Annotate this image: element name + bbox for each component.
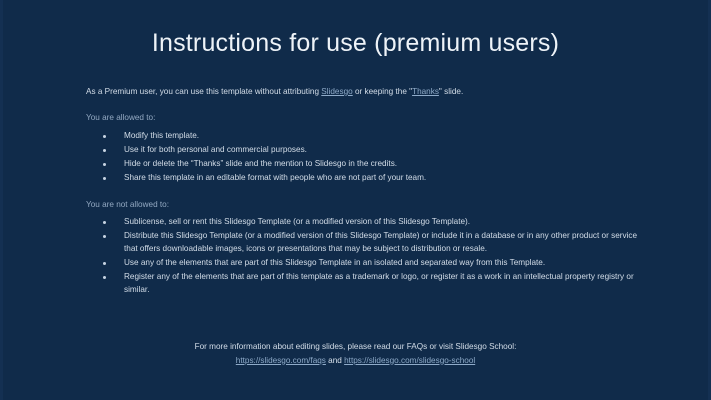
intro-text-part3: " slide. — [439, 87, 463, 96]
list-item: Modify this template. — [86, 130, 641, 143]
bullet-dot-icon — [103, 262, 106, 265]
list-item-text: Use any of the elements that are part of… — [124, 258, 545, 267]
bullet-dot-icon — [103, 276, 106, 279]
bullet-dot-icon — [103, 235, 106, 238]
list-item: Share this template in an editable forma… — [86, 172, 641, 185]
list-item: Use it for both personal and commercial … — [86, 144, 641, 157]
list-item: Sublicense, sell or rent this Slidesgo T… — [86, 216, 641, 229]
slide-instructions-premium: Instructions for use (premium users) As … — [0, 0, 711, 400]
list-item-text: Use it for both personal and commercial … — [124, 145, 307, 154]
footer: For more information about editing slide… — [0, 340, 711, 367]
list-item: Register any of the elements that are pa… — [86, 271, 641, 297]
faqs-url-link[interactable]: https://slidesgo.com/faqs — [236, 356, 326, 365]
list-item-text: Hide or delete the “Thanks” slide and th… — [124, 159, 397, 168]
thanks-link[interactable]: Thanks — [412, 87, 439, 96]
intro-paragraph: As a Premium user, you can use this temp… — [86, 86, 641, 98]
bullet-dot-icon — [103, 135, 106, 138]
footer-info-text: For more information about editing slide… — [0, 340, 711, 354]
list-item: Distribute this Slidesgo Template (or a … — [86, 230, 641, 256]
allowed-heading: You are allowed to: — [86, 112, 641, 123]
intro-text-part2: or keeping the " — [353, 87, 412, 96]
intro-text-part1: As a Premium user, you can use this temp… — [86, 87, 321, 96]
list-item-text: Modify this template. — [124, 131, 199, 140]
bullet-dot-icon — [103, 149, 106, 152]
list-item-text: Register any of the elements that are pa… — [124, 272, 634, 294]
slidesgo-link[interactable]: Slidesgo — [321, 87, 352, 96]
slidesgo-school-url-link[interactable]: https://slidesgo.com/slidesgo-school — [344, 356, 475, 365]
not-allowed-heading: You are not allowed to: — [86, 199, 641, 210]
content-body: As a Premium user, you can use this temp… — [86, 86, 641, 311]
bullet-dot-icon — [103, 221, 106, 224]
list-item-text: Sublicense, sell or rent this Slidesgo T… — [124, 217, 470, 226]
list-item: Use any of the elements that are part of… — [86, 257, 641, 270]
bullet-dot-icon — [103, 163, 106, 166]
list-item: Hide or delete the “Thanks” slide and th… — [86, 158, 641, 171]
bullet-dot-icon — [103, 177, 106, 180]
list-item-text: Distribute this Slidesgo Template (or a … — [124, 231, 637, 253]
list-item-text: Share this template in an editable forma… — [124, 173, 426, 182]
allowed-list: Modify this template. Use it for both pe… — [86, 130, 641, 185]
page-title: Instructions for use (premium users) — [0, 30, 711, 58]
footer-conjunction: and — [326, 356, 344, 365]
footer-links: https://slidesgo.com/faqs and https://sl… — [0, 354, 711, 368]
not-allowed-list: Sublicense, sell or rent this Slidesgo T… — [86, 216, 641, 297]
